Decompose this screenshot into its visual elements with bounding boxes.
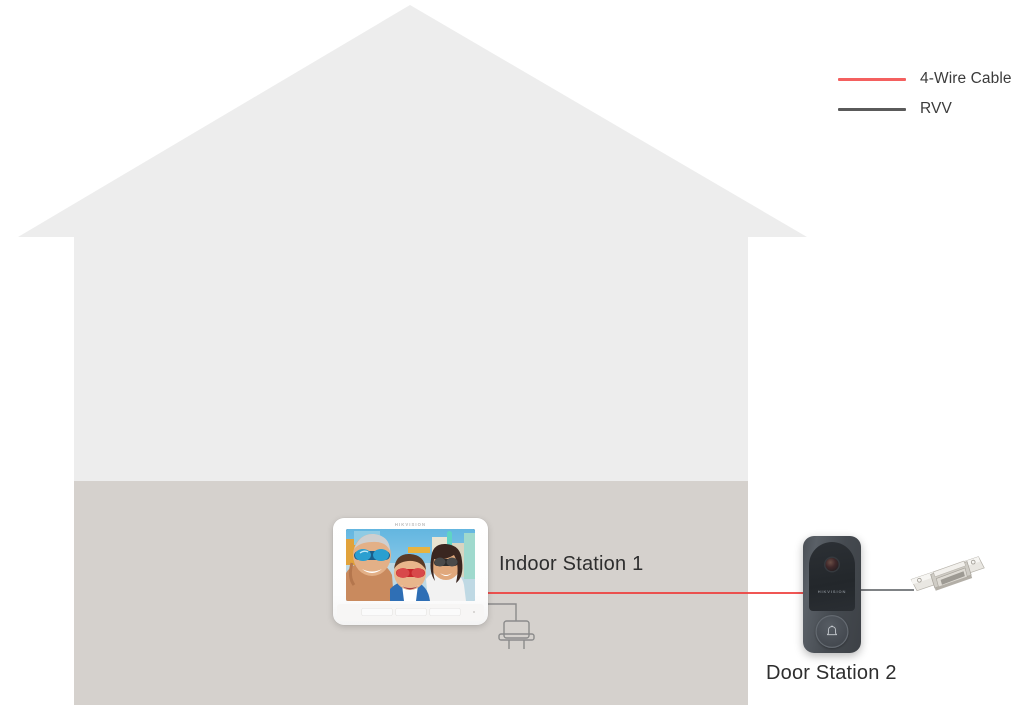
bell-icon bbox=[826, 625, 839, 639]
house-wall-upper bbox=[74, 237, 748, 482]
indoor-station-screen bbox=[346, 529, 475, 601]
indoor-station-buttons[interactable] bbox=[361, 608, 460, 616]
indoor-station-control-bar bbox=[337, 604, 484, 621]
power-plug-icon bbox=[499, 621, 534, 649]
label-door-station: Door Station 2 bbox=[766, 662, 897, 685]
door-station-brand: HIKVISION bbox=[803, 589, 861, 594]
device-indoor-station[interactable]: HIKVISION bbox=[333, 518, 488, 625]
house-roof bbox=[18, 5, 807, 237]
line-swatch-icon bbox=[838, 108, 906, 111]
device-door-station[interactable]: HIKVISION bbox=[803, 536, 861, 653]
legend-item-label: 4-Wire Cable bbox=[920, 70, 1012, 88]
door-station-faceplate bbox=[809, 542, 855, 611]
indoor-station-button-1[interactable] bbox=[361, 608, 392, 616]
doorbell-button[interactable] bbox=[816, 615, 849, 648]
line-swatch-icon bbox=[838, 78, 906, 81]
legend-item-4wire: 4-Wire Cable bbox=[838, 64, 1023, 94]
diagram-canvas: 4-Wire Cable RVV HIKVISION bbox=[0, 0, 1024, 723]
label-indoor-station: Indoor Station 1 bbox=[499, 553, 643, 576]
indoor-station-indicator bbox=[473, 611, 475, 613]
legend-item-label: RVV bbox=[920, 100, 952, 118]
electric-strike-lock-icon bbox=[909, 556, 986, 594]
camera-icon bbox=[826, 558, 839, 571]
family-photo bbox=[346, 529, 475, 601]
legend-item-rvv: RVV bbox=[838, 94, 1023, 124]
power-cable bbox=[487, 604, 516, 621]
indoor-station-button-2[interactable] bbox=[395, 608, 426, 616]
legend: 4-Wire Cable RVV bbox=[838, 64, 1023, 124]
indoor-station-button-3[interactable] bbox=[429, 608, 460, 616]
indoor-station-brand: HIKVISION bbox=[333, 522, 488, 527]
